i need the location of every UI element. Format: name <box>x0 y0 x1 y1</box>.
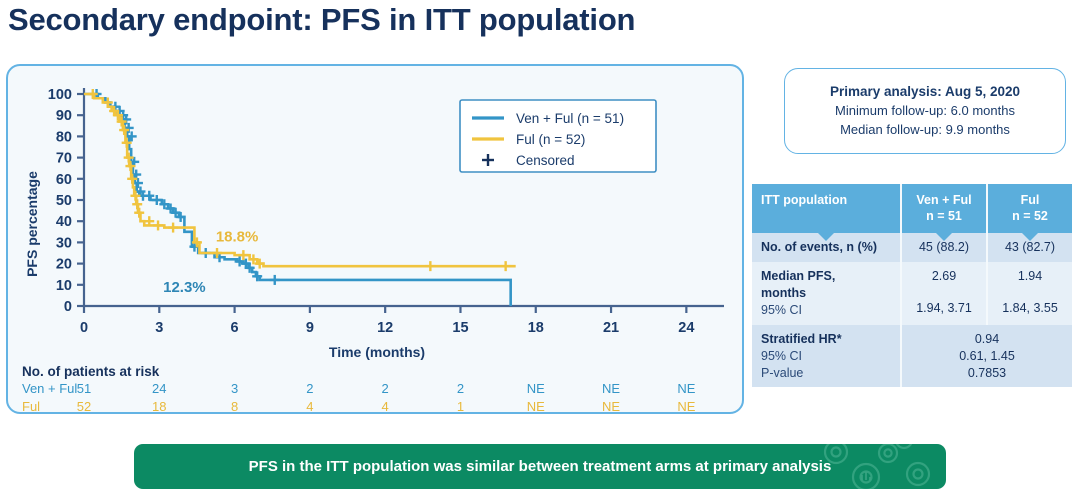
row-hr-ci-value: 0.61, 1.45 <box>908 348 1066 365</box>
analysis-info-box: Primary analysis: Aug 5, 2020 Minimum fo… <box>784 68 1066 154</box>
risk-value: 3 <box>215 381 255 396</box>
x-tick-label: 9 <box>306 320 314 336</box>
row-median-label: Median PFS, months 95% CI <box>752 262 900 325</box>
y-tick-label: 60 <box>56 172 72 188</box>
primary-analysis-date: Primary analysis: Aug 5, 2020 <box>830 82 1020 102</box>
x-tick-label: 0 <box>80 320 88 336</box>
row-median-arm2-ci: 1.84, 3.55 <box>994 300 1066 317</box>
risk-value: 2 <box>365 381 405 396</box>
y-tick-label: 100 <box>48 87 72 103</box>
x-tick-label: 12 <box>377 320 393 336</box>
risk-value: 52 <box>64 399 104 414</box>
header-population-label: ITT population <box>761 193 847 207</box>
header-arm1-n: n = 51 <box>908 209 980 225</box>
header-notch-icon <box>935 232 953 241</box>
risk-row-label: Ful <box>22 399 40 414</box>
risk-value: 8 <box>215 399 255 414</box>
x-tick-label: 21 <box>603 320 619 336</box>
slide-root: Secondary endpoint: PFS in ITT populatio… <box>0 0 1080 495</box>
table-row-median-pfs: Median PFS, months 95% CI 2.69 1.94, 3.7… <box>752 262 1072 325</box>
row-median-arm1: 2.69 1.94, 3.71 <box>900 262 986 325</box>
minimum-followup: Minimum follow-up: 6.0 months <box>835 102 1015 121</box>
x-tick-label: 18 <box>528 320 544 336</box>
km-curve-series-1 <box>84 94 511 306</box>
header-arm1-name: Ven + Ful <box>908 193 980 209</box>
header-cell-arm1: Ven + Ful n = 51 <box>900 184 986 233</box>
row-hr-ci-label: 95% CI <box>761 348 894 365</box>
header-arm2-name: Ful <box>994 193 1066 209</box>
risk-table-rows: Ven + Ful51243222NENENEFul52188441NENENE <box>22 381 734 417</box>
y-tick-label: 10 <box>56 278 72 294</box>
row-median-label-l1: Median PFS, <box>761 268 894 285</box>
y-tick-label: 80 <box>56 129 72 145</box>
patients-at-risk-table: No. of patients at risk Ven + Ful5124322… <box>22 364 734 417</box>
median-followup: Median follow-up: 9.9 months <box>840 121 1010 140</box>
legend-label-3: Censored <box>516 153 575 168</box>
row-hr-pvalue-label: P-value <box>761 365 894 382</box>
risk-value: NE <box>516 399 556 414</box>
x-axis-title: Time (months) <box>8 344 746 360</box>
x-tick-label: 6 <box>231 320 239 336</box>
censored-marks-series-2 <box>88 89 511 271</box>
risk-value: 4 <box>290 399 330 414</box>
row-median-label-l2: months <box>761 285 894 302</box>
header-notch-icon <box>1021 232 1039 241</box>
y-tick-label: 30 <box>56 235 72 251</box>
row-hr-values: 0.94 0.61, 1.45 0.7853 <box>900 325 1072 388</box>
header-cell-population: ITT population <box>752 184 900 233</box>
risk-value: 1 <box>440 399 480 414</box>
row-median-arm2: 1.94 1.84, 3.55 <box>986 262 1072 325</box>
row-hr-value: 0.94 <box>908 331 1066 348</box>
risk-value: 4 <box>365 399 405 414</box>
risk-value: 18 <box>139 399 179 414</box>
x-tick-label: 15 <box>452 320 468 336</box>
header-arm2-n: n = 52 <box>994 209 1066 225</box>
risk-table-title: No. of patients at risk <box>22 364 734 379</box>
header-cell-arm2: Ful n = 52 <box>986 184 1072 233</box>
risk-row-ven-ful: Ven + Ful51243222NENENE <box>22 381 734 399</box>
curve-annotation-1: 18.8% <box>216 228 259 245</box>
risk-value: NE <box>666 381 706 396</box>
y-tick-label: 20 <box>56 257 72 273</box>
km-plot-svg: 01020304050607080901000369121518212418.8… <box>8 66 742 412</box>
results-table-header: ITT population Ven + Ful n = 51 Ful n = … <box>752 184 1072 233</box>
km-chart-panel: 01020304050607080901000369121518212418.8… <box>6 64 744 414</box>
risk-value: NE <box>591 399 631 414</box>
legend-label-2: Ful (n = 52) <box>516 132 585 147</box>
risk-row-ful: Ful52188441NENENE <box>22 399 734 417</box>
row-median-arm1-ci: 1.94, 3.71 <box>908 300 980 317</box>
km-curve-series-2 <box>84 94 516 266</box>
row-median-ci-label: 95% CI <box>761 302 894 319</box>
x-tick-label: 24 <box>678 320 694 336</box>
risk-value: 2 <box>440 381 480 396</box>
conclusion-banner: PFS in the ITT population was similar be… <box>134 444 946 489</box>
row-hr-label-l1: Stratified HR* <box>761 331 894 348</box>
curve-annotation-2: 12.3% <box>163 279 206 296</box>
risk-value: NE <box>591 381 631 396</box>
risk-value: NE <box>666 399 706 414</box>
row-median-arm1-value: 2.69 <box>908 268 980 285</box>
legend-label-1: Ven + Ful (n = 51) <box>516 111 624 126</box>
row-median-arm2-value: 1.94 <box>994 268 1066 285</box>
conclusion-text: PFS in the ITT population was similar be… <box>249 458 832 475</box>
y-tick-label: 70 <box>56 151 72 167</box>
risk-value: NE <box>516 381 556 396</box>
risk-value: 24 <box>139 381 179 396</box>
results-table: ITT population Ven + Ful n = 51 Ful n = … <box>752 184 1072 387</box>
y-tick-label: 40 <box>56 214 72 230</box>
page-title: Secondary endpoint: PFS in ITT populatio… <box>8 2 635 38</box>
header-notch-icon <box>817 232 835 241</box>
table-row-stratified-hr: Stratified HR* 95% CI P-value 0.94 0.61,… <box>752 325 1072 388</box>
x-tick-label: 3 <box>155 320 163 336</box>
y-axis-title: PFS percentage <box>24 154 40 294</box>
y-tick-label: 50 <box>56 193 72 209</box>
risk-value: 2 <box>290 381 330 396</box>
row-hr-label: Stratified HR* 95% CI P-value <box>752 325 900 388</box>
row-hr-pvalue-value: 0.7853 <box>908 365 1066 382</box>
y-tick-label: 0 <box>64 299 72 315</box>
risk-value: 51 <box>64 381 104 396</box>
y-tick-label: 90 <box>56 108 72 124</box>
